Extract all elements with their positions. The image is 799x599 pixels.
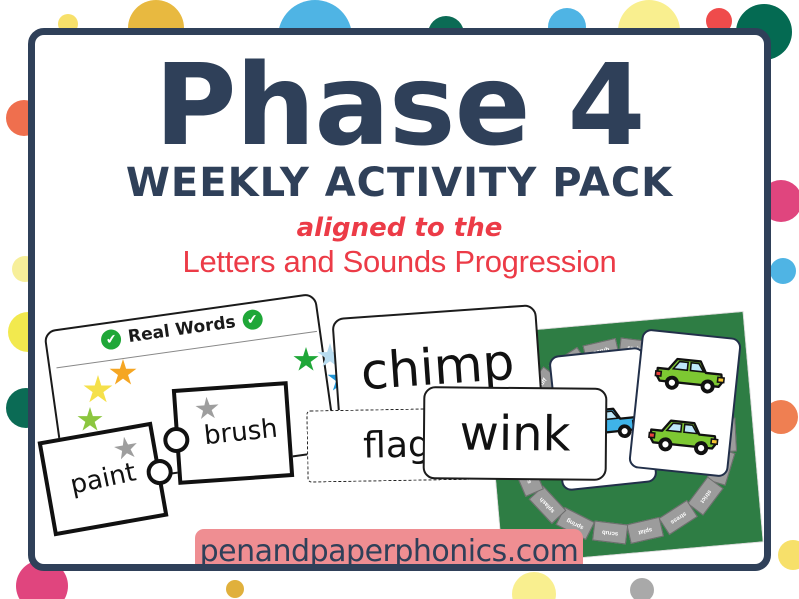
website-url: penandpaperphonics.com xyxy=(200,534,579,569)
check-icon-left: ✔ xyxy=(100,328,123,351)
real-words-label: Real Words xyxy=(127,312,237,347)
word-card-label: wink xyxy=(459,405,570,462)
dot-bottom-yellow xyxy=(512,572,556,599)
board-track-square: scrub xyxy=(592,521,628,545)
puzzle-notch xyxy=(162,426,190,454)
dot-right-blue xyxy=(770,258,796,284)
dot-right-yellow xyxy=(778,540,799,570)
puzzle-piece-brush: brush xyxy=(172,381,294,485)
poster-frame: Phase 4 WEEKLY ACTIVITY PACK aligned to … xyxy=(28,28,771,571)
star-icon-grey-brush xyxy=(194,396,220,422)
dot-bottom-grey xyxy=(630,578,654,599)
product-collage: splatscrubspringsplashsplitstrandstrains… xyxy=(35,303,764,564)
puzzle-piece-label: paint xyxy=(67,457,138,500)
page-title: Phase 4 xyxy=(35,53,764,159)
aligned-label: aligned to the xyxy=(35,213,764,243)
car-icon-green-bottom xyxy=(642,407,724,462)
headline-block: Phase 4 WEEKLY ACTIVITY PACK aligned to … xyxy=(35,53,764,280)
puzzle-piece-label: brush xyxy=(203,414,279,452)
page-subtitle: WEEKLY ACTIVITY PACK xyxy=(35,161,764,205)
website-banner[interactable]: penandpaperphonics.com xyxy=(195,529,583,571)
progression-label: Letters and Sounds Progression xyxy=(35,244,764,280)
puzzle-piece-paint: paint xyxy=(38,422,169,537)
check-icon-right: ✔ xyxy=(241,308,264,331)
car-icon-green-top xyxy=(649,345,731,400)
word-card-wink: wink xyxy=(423,386,608,481)
word-card-label: flag xyxy=(363,424,431,466)
car-card-green xyxy=(628,328,742,478)
dot-bottom-gold-sm xyxy=(226,580,244,598)
poster-canvas: Phase 4 WEEKLY ACTIVITY PACK aligned to … xyxy=(0,0,799,599)
